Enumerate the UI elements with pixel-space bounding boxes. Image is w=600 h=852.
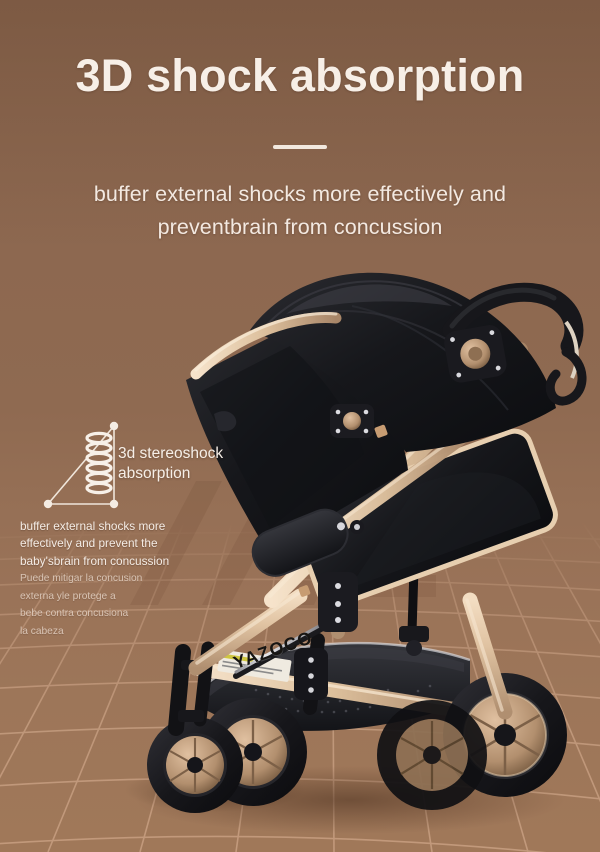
body-es-line-1: Puede mitigar la concusion [20,570,190,588]
body-en-line-1: buffer external shocks more [20,518,196,535]
advertisement-poster: YAZOCO 3D shock absorption buffer extern… [0,0,600,852]
floor-grid [0,522,600,852]
title-divider [273,145,327,149]
body-en-line-3: baby'sbrain from concussion [20,553,196,570]
subtitle-line-2: preventbrain from concussion [0,211,600,244]
coil-spring-icon [82,430,116,500]
subtitle-line-1: buffer external shocks more effectively … [0,178,600,211]
product-photo-stroller: YAZOCO [0,0,600,852]
callout-title-line-2: absorption [118,464,248,484]
callout-title-line-1: 3d stereoshock [118,444,248,464]
body-en-line-2: effectively and prevent the [20,535,196,552]
background-watermark [118,455,448,645]
callout-leader-lines [38,420,198,512]
page-subtitle: buffer external shocks more effectively … [0,178,600,243]
page-title: 3D shock absorption [0,52,600,100]
callout-title: 3d stereoshock absorption [118,444,248,483]
callout-body-spanish: Puede mitigar la concusion externa yle p… [20,570,190,640]
callout-body-english: buffer external shocks more effectively … [20,518,196,570]
product-brand-logo: YAZOCO [231,627,316,674]
body-es-line-4: la cabeza [20,623,190,641]
body-es-line-3: bebe contra concusiona [20,605,190,623]
body-es-line-2: externa yle protege a [20,588,190,606]
